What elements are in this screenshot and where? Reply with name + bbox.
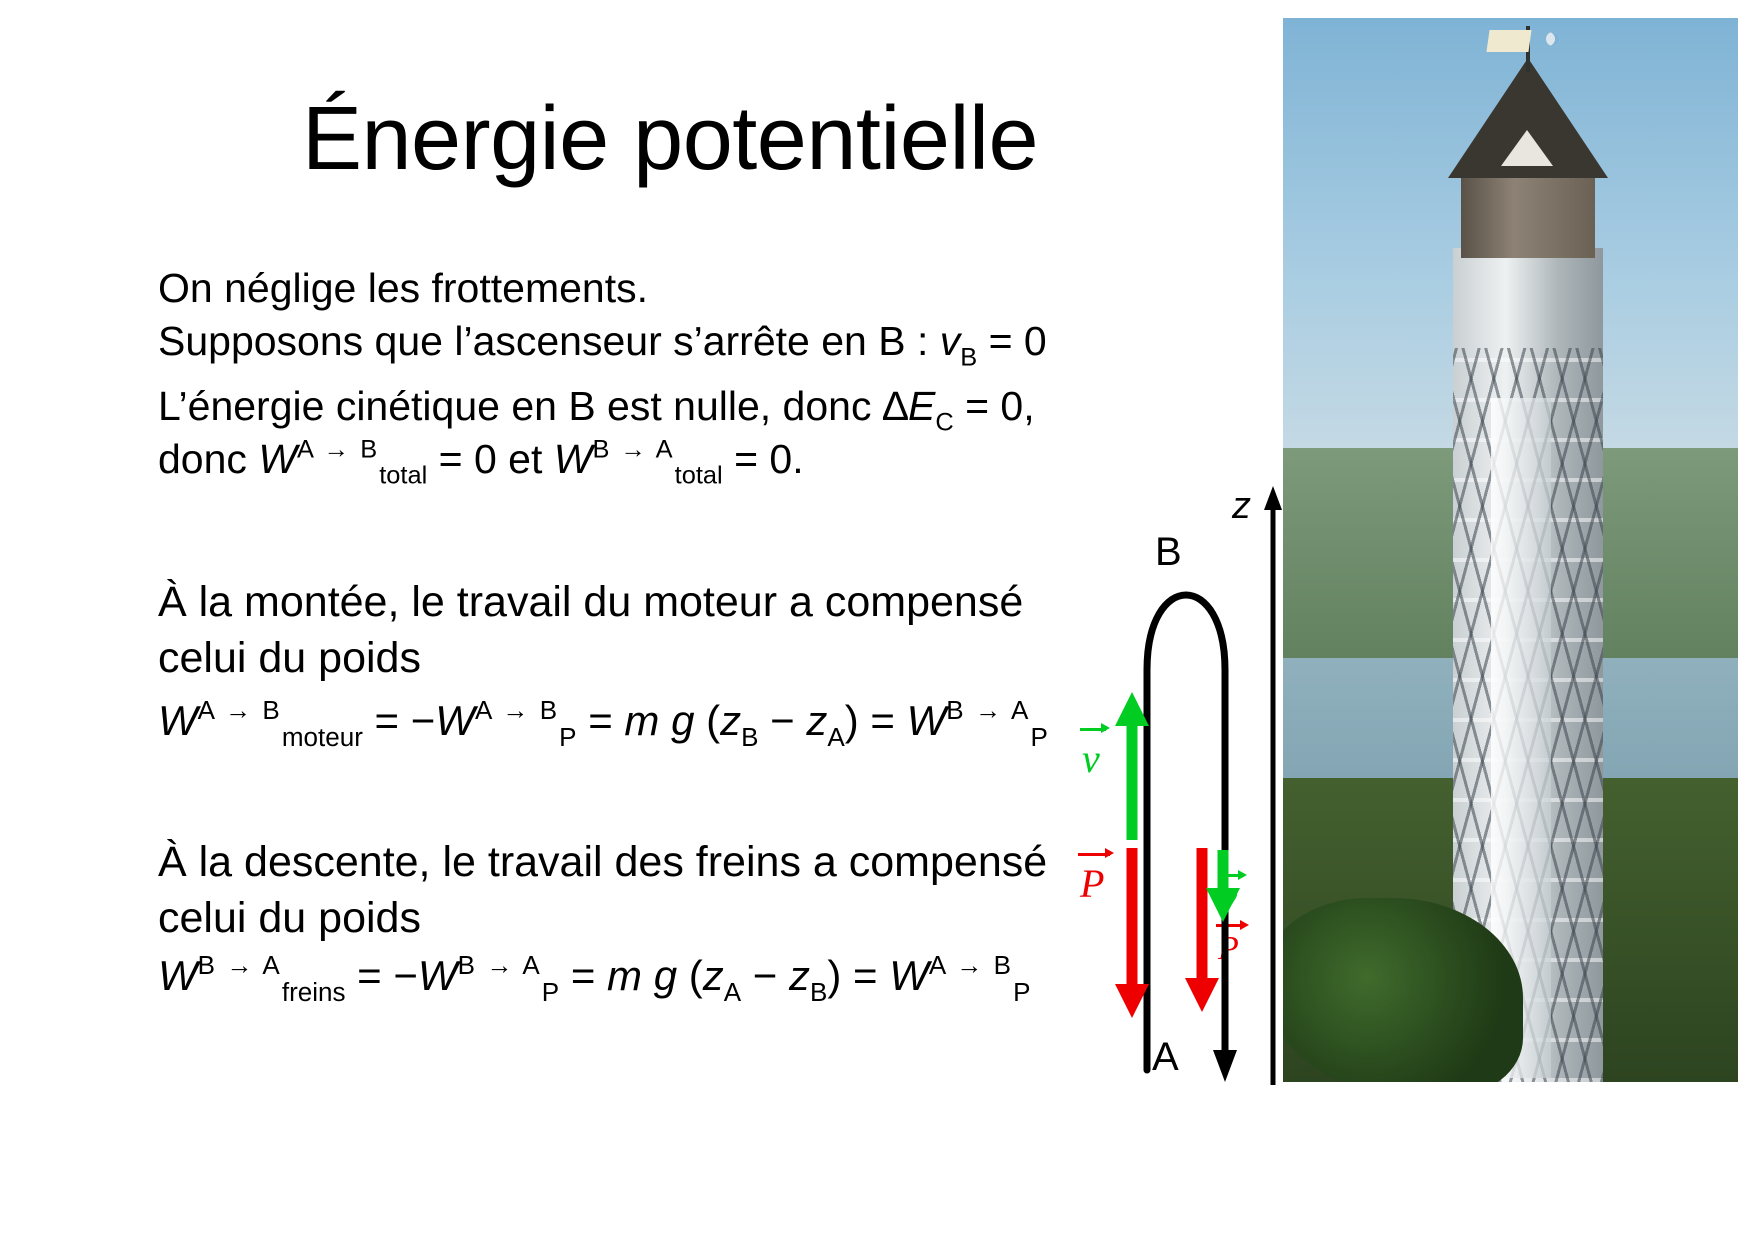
trajectory-arrowhead-a (1213, 1050, 1237, 1082)
formula-travail-freins: WB → Afreins = −WB → AP = m g (zA − zB) … (158, 955, 1030, 997)
line-neglige-frottements: On néglige les frottements. (158, 262, 1138, 315)
velocity-arrowhead-down (1206, 888, 1240, 922)
paragraph-montee: À la montée, le travail du moteur a comp… (158, 575, 1058, 687)
line-donc-travaux-totaux: donc WA → Btotal = 0 et WB → Atotal = 0. (158, 433, 1138, 486)
weight-arrowhead-right (1185, 978, 1219, 1012)
page-title: Énergie potentielle (170, 92, 1170, 187)
line-energie-cinetique-nulle: L’énergie cinétique en B est nulle, donc… (158, 380, 1138, 433)
z-axis-arrowhead (1264, 486, 1282, 510)
slide-canvas: Énergie potentielle On néglige les frott… (0, 0, 1755, 1240)
tower-photo (1283, 18, 1738, 1082)
line-supposons-arret: Supposons que l’ascenseur s’arrête en B … (158, 315, 1138, 368)
paragraph-hypotheses: On néglige les frottements. Supposons qu… (158, 262, 1138, 369)
formula-travail-moteur: WA → Bmoteur = −WA → BP = m g (zB − zA) … (158, 700, 1048, 742)
photo-tower-head (1461, 168, 1595, 258)
paragraph-descente: À la descente, le travail des freins a c… (158, 835, 1058, 947)
trajectory-loop-path (1147, 595, 1225, 1070)
photo-weather-vane (1486, 30, 1531, 52)
photo-moon (1546, 32, 1560, 46)
photo-tower-dormer (1501, 130, 1553, 166)
trajectory-diagram (1075, 470, 1285, 1090)
paragraph-energie-cinetique: L’énergie cinétique en B est nulle, donc… (158, 380, 1138, 487)
